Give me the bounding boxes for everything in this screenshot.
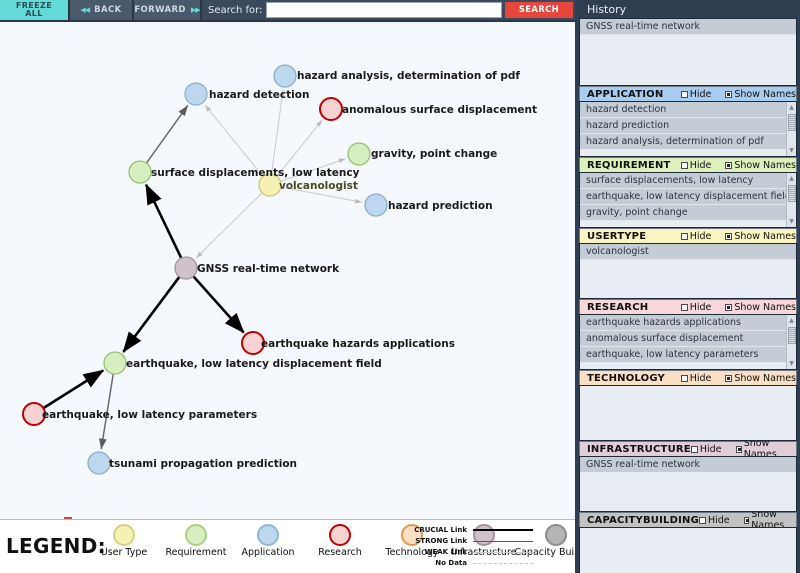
- hide-checkbox[interactable]: [681, 162, 688, 169]
- legend-link-label: No Data: [405, 559, 467, 567]
- forward-arrow-icon: ▶▶: [191, 6, 200, 14]
- scrollbar-thumb[interactable]: [788, 185, 796, 202]
- legend-circle-icon: [545, 524, 567, 546]
- show-names-checkbox[interactable]: [725, 233, 732, 240]
- hide-label: Hide: [690, 231, 712, 242]
- hide-checkbox[interactable]: [681, 91, 688, 98]
- graph-node-label: hazard analysis, determination of pdf: [297, 70, 520, 82]
- category-header: INFRASTRUCTUREHideShow Names: [579, 441, 797, 456]
- graph-node-anomalous-surface-displacement[interactable]: [320, 98, 342, 120]
- graph-node-label: gravity, point change: [371, 148, 497, 160]
- graph-edge: [43, 370, 103, 408]
- category-list[interactable]: volcanologist: [579, 243, 797, 299]
- graph-edge: [196, 193, 262, 258]
- show-names-checkbox[interactable]: [725, 91, 732, 98]
- show-names-checkbox[interactable]: [744, 517, 750, 524]
- category-list[interactable]: [579, 527, 797, 573]
- hide-label: Hide: [700, 444, 722, 455]
- graph-node-hazard-analysis[interactable]: [274, 65, 296, 87]
- graph-node-label: surface displacements, low latency: [151, 167, 359, 179]
- show-label: Show Names: [734, 373, 796, 384]
- category-controls: HideShow Names: [681, 89, 796, 100]
- category-header: CAPACITYBUILDINGHideShow Names: [579, 512, 797, 527]
- graph-node-label: earthquake, low latency parameters: [42, 409, 257, 421]
- category-list[interactable]: earthquake hazards applicationsanomalous…: [579, 314, 797, 370]
- graph-node-tsunami-propagation-prediction[interactable]: [88, 452, 110, 474]
- legend-item: Research: [304, 524, 376, 558]
- top-toolbar: FREEZE ALL ◀◀ BACK FORWARD ▶▶ Search for…: [0, 0, 575, 22]
- graph-node-label: earthquake, low latency displacement fie…: [126, 358, 382, 370]
- legend-item: Requirement: [160, 524, 232, 558]
- show-label: Show Names: [734, 89, 796, 100]
- graph-node-label: hazard detection: [209, 89, 309, 101]
- category-name: REQUIREMENT: [587, 160, 671, 171]
- scroll-up-icon[interactable]: ▲: [787, 102, 797, 113]
- hide-checkbox[interactable]: [681, 375, 688, 382]
- app-root: FREEZE ALL ◀◀ BACK FORWARD ▶▶ Search for…: [0, 0, 800, 573]
- hide-label: Hide: [690, 160, 712, 171]
- right-panel: History GNSS real-time network APPLICATI…: [575, 0, 800, 573]
- category-name: INFRASTRUCTURE: [587, 444, 691, 455]
- category-header: USERTYPEHideShow Names: [579, 228, 797, 243]
- category-list-item[interactable]: earthquake hazards applications: [580, 315, 796, 331]
- legend-link-row: WEAK Link: [405, 547, 533, 557]
- graph-node-label: anomalous surface displacement: [342, 104, 537, 116]
- graph-node-gnss-real-time-network[interactable]: [175, 257, 197, 279]
- graph-canvas[interactable]: hazard detectionhazard analysis, determi…: [0, 24, 575, 519]
- category-name: TECHNOLOGY: [587, 373, 665, 384]
- legend-item-label: Research: [318, 547, 362, 558]
- history-list[interactable]: GNSS real-time network: [579, 18, 797, 86]
- graph-node-hazard-detection[interactable]: [185, 83, 207, 105]
- hide-control[interactable]: Hide: [681, 231, 712, 242]
- graph-edge: [193, 276, 243, 332]
- graph-node-label: earthquake hazards applications: [261, 338, 455, 350]
- category-list-item[interactable]: earthquake, low latency parameters: [580, 347, 796, 363]
- scroll-down-icon[interactable]: ▼: [787, 145, 797, 156]
- legend-link-types: CRUCIAL LinkSTRONG LinkWEAK LinkNo Data: [405, 525, 533, 568]
- history-item[interactable]: GNSS real-time network: [580, 19, 796, 35]
- category-list-item[interactable]: hazard detection: [580, 102, 796, 118]
- forward-button[interactable]: FORWARD ▶▶: [134, 0, 202, 20]
- scroll-up-icon[interactable]: ▲: [787, 315, 797, 326]
- category-block-application: APPLICATIONHideShow Nameshazard detectio…: [579, 86, 797, 157]
- legend-link-line-icon: [473, 563, 533, 564]
- hide-label: Hide: [690, 302, 712, 313]
- graph-edge: [271, 90, 283, 174]
- hide-label: Hide: [708, 515, 730, 526]
- back-label: BACK: [94, 5, 121, 15]
- history-title: History: [579, 0, 797, 18]
- category-block-requirement: REQUIREMENTHideShow Namessurface displac…: [579, 157, 797, 228]
- legend-link-label: STRONG Link: [405, 537, 467, 545]
- hide-checkbox[interactable]: [681, 233, 688, 240]
- category-header: APPLICATIONHideShow Names: [579, 86, 797, 101]
- category-list-item[interactable]: surface displacements, low latency: [580, 173, 796, 189]
- show-names-checkbox[interactable]: [725, 375, 732, 382]
- category-name: CAPACITYBUILDING: [587, 515, 699, 526]
- hide-control[interactable]: Hide: [681, 302, 712, 313]
- scroll-down-icon[interactable]: ▼: [787, 358, 797, 369]
- legend-item-label: Application: [241, 547, 294, 558]
- show-control[interactable]: Show Names: [725, 160, 796, 171]
- category-header: TECHNOLOGYHideShow Names: [579, 370, 797, 385]
- hide-control[interactable]: Hide: [699, 515, 730, 526]
- back-button[interactable]: ◀◀ BACK: [70, 0, 134, 20]
- category-scrollbar[interactable]: ▲▼: [786, 102, 796, 156]
- graph-node-label: GNSS real-time network: [197, 263, 339, 275]
- legend-link-label: CRUCIAL Link: [405, 526, 467, 534]
- category-list[interactable]: surface displacements, low latencyearthq…: [579, 172, 797, 228]
- category-block-capacitybuilding: CAPACITYBUILDINGHideShow Names: [579, 512, 797, 573]
- hide-control[interactable]: Hide: [691, 444, 722, 455]
- category-scrollbar[interactable]: ▲▼: [786, 315, 796, 369]
- category-block-research: RESEARCHHideShow Namesearthquake hazards…: [579, 299, 797, 370]
- scrollbar-thumb[interactable]: [788, 114, 796, 131]
- category-list-item[interactable]: volcanologist: [580, 244, 796, 260]
- scroll-up-icon[interactable]: ▲: [787, 173, 797, 184]
- category-block-usertype: USERTYPEHideShow Namesvolcanologist: [579, 228, 797, 299]
- show-label: Show Names: [734, 302, 796, 313]
- graph-node-label: tsunami propagation prediction: [109, 458, 297, 470]
- category-list-item[interactable]: hazard prediction: [580, 118, 796, 134]
- hide-checkbox[interactable]: [681, 304, 688, 311]
- category-scrollbar[interactable]: ▲▼: [786, 173, 796, 227]
- hide-checkbox[interactable]: [699, 517, 706, 524]
- category-name: USERTYPE: [587, 231, 646, 242]
- category-header: RESEARCHHideShow Names: [579, 299, 797, 314]
- graph-node-surface-displacements[interactable]: [129, 161, 151, 183]
- hide-label: Hide: [690, 89, 712, 100]
- category-list-item[interactable]: anomalous surface displacement: [580, 331, 796, 347]
- category-list-item[interactable]: gravity, point change: [580, 205, 796, 221]
- legend-link-line-icon: [473, 552, 533, 553]
- show-names-checkbox[interactable]: [725, 304, 732, 311]
- show-names-checkbox[interactable]: [736, 446, 742, 453]
- graph-edge: [205, 105, 263, 177]
- category-list[interactable]: GNSS real-time network: [579, 456, 797, 512]
- graph-node-earthquake-displacement-field[interactable]: [104, 352, 126, 374]
- hide-control[interactable]: Hide: [681, 89, 712, 100]
- freeze-all-label-line2: ALL: [25, 10, 43, 18]
- show-label: Show Names: [734, 160, 796, 171]
- category-block-infrastructure: INFRASTRUCTUREHideShow NamesGNSS real-ti…: [579, 441, 797, 512]
- freeze-all-button[interactable]: FREEZE ALL: [0, 0, 70, 20]
- legend-item-label: User Type: [101, 547, 148, 558]
- graph-node-gravity-point-change[interactable]: [348, 143, 370, 165]
- category-name: RESEARCH: [587, 302, 648, 313]
- legend-circle-icon: [329, 524, 351, 546]
- graph-node-label: hazard prediction: [388, 200, 493, 212]
- show-control[interactable]: Show Names: [725, 302, 796, 313]
- search-input[interactable]: [266, 2, 502, 18]
- legend-link-line-icon: [473, 529, 533, 531]
- forward-label: FORWARD: [134, 5, 186, 15]
- show-control[interactable]: Show Names: [725, 89, 796, 100]
- scrollbar-thumb[interactable]: [788, 327, 796, 344]
- legend-item: Application: [232, 524, 304, 558]
- category-controls: HideShow Names: [681, 160, 796, 171]
- show-label: Show Names: [734, 231, 796, 242]
- show-control[interactable]: Show Names: [725, 231, 796, 242]
- category-block-technology: TECHNOLOGYHideShow Names: [579, 370, 797, 441]
- legend-circle-icon: [113, 524, 135, 546]
- category-controls: HideShow Names: [681, 302, 796, 313]
- category-controls: HideShow Names: [681, 231, 796, 242]
- legend-item: User Type: [88, 524, 160, 558]
- category-list[interactable]: [579, 385, 797, 441]
- scroll-down-icon[interactable]: ▼: [787, 216, 797, 227]
- hide-control[interactable]: Hide: [681, 373, 712, 384]
- legend-item-label: Requirement: [165, 547, 226, 558]
- search-label: Search for:: [202, 0, 266, 20]
- category-header: REQUIREMENTHideShow Names: [579, 157, 797, 172]
- category-list[interactable]: hazard detectionhazard predictionhazard …: [579, 101, 797, 157]
- category-list-item[interactable]: GNSS real-time network: [580, 457, 796, 473]
- category-list-item[interactable]: hazard analysis, determination of pdf: [580, 134, 796, 150]
- legend-link-row: CRUCIAL Link: [405, 525, 533, 535]
- show-control[interactable]: Show Names: [725, 373, 796, 384]
- graph-node-label: volcanologist: [279, 180, 358, 192]
- hide-control[interactable]: Hide: [681, 160, 712, 171]
- legend-link-line-icon: [473, 541, 533, 542]
- legend-link-label: WEAK Link: [405, 548, 467, 556]
- back-arrow-icon: ◀◀: [80, 6, 89, 14]
- hide-label: Hide: [690, 373, 712, 384]
- legend-link-row: No Data: [405, 558, 533, 568]
- legend-circle-icon: [257, 524, 279, 546]
- graph-edge: [146, 185, 181, 258]
- legend-circle-icon: [185, 524, 207, 546]
- show-names-checkbox[interactable]: [725, 162, 732, 169]
- category-sections: APPLICATIONHideShow Nameshazard detectio…: [579, 86, 797, 573]
- legend-bar: LEGEND: User TypeRequirementApplicationR…: [0, 519, 575, 573]
- graph-node-hazard-prediction[interactable]: [365, 194, 387, 216]
- search-button[interactable]: SEARCH: [505, 2, 573, 18]
- graph-edge: [146, 105, 187, 163]
- hide-checkbox[interactable]: [691, 446, 698, 453]
- legend-link-row: STRONG Link: [405, 536, 533, 546]
- graph-edge: [123, 277, 179, 352]
- category-name: APPLICATION: [587, 89, 663, 100]
- category-controls: HideShow Names: [681, 373, 796, 384]
- category-list-item[interactable]: earthquake, low latency displacement fie…: [580, 189, 796, 205]
